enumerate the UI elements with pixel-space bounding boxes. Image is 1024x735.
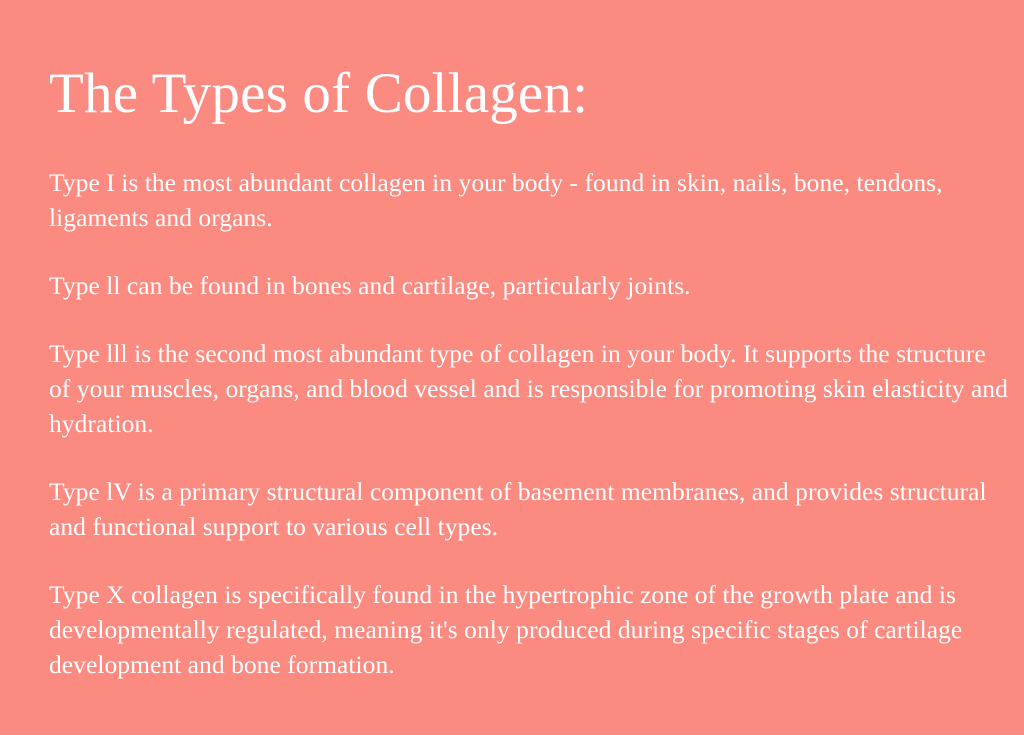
collagen-type-paragraph-5: Type X collagen is specifically found in… (49, 577, 1011, 682)
collagen-type-list: Type I is the most abundant collagen in … (49, 165, 1011, 682)
slide-canvas: The Types of Collagen: Type I is the mos… (0, 0, 1024, 735)
collagen-type-paragraph-4: Type lV is a primary structural componen… (49, 474, 1011, 544)
collagen-type-paragraph-2: Type ll can be found in bones and cartil… (49, 268, 1011, 303)
collagen-type-paragraph-3: Type lll is the second most abundant typ… (49, 336, 1011, 441)
slide-content: The Types of Collagen: Type I is the mos… (49, 0, 1011, 682)
collagen-type-paragraph-1: Type I is the most abundant collagen in … (49, 165, 1011, 235)
page-title: The Types of Collagen: (49, 0, 1011, 125)
